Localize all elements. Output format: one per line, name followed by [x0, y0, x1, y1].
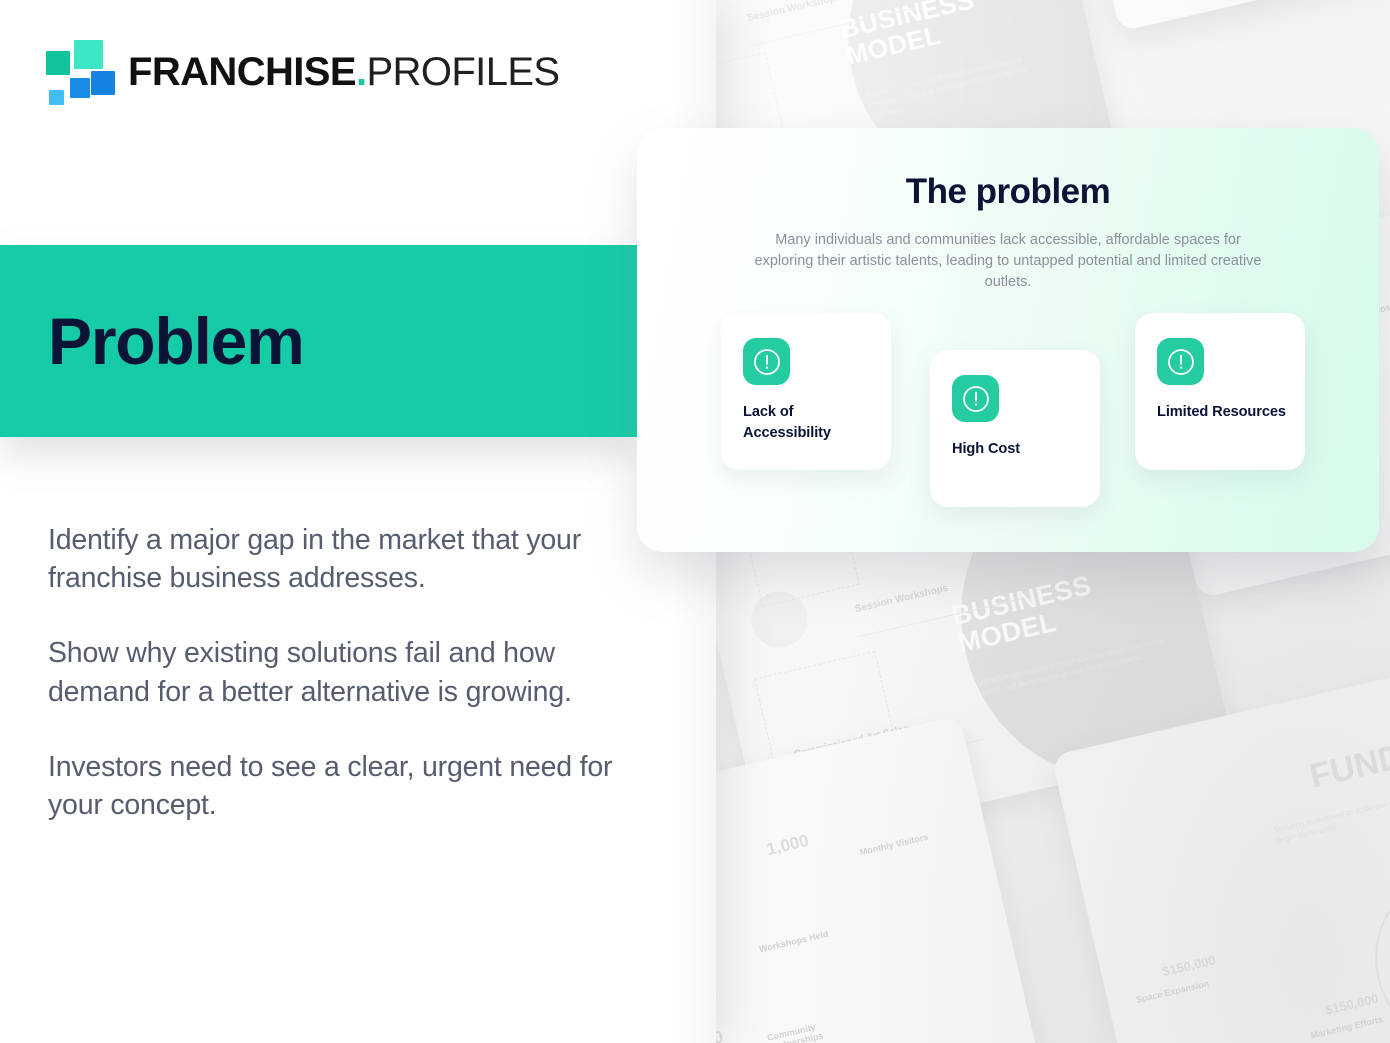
brand-name-bold: FRANCHISE	[128, 50, 356, 94]
brand-wordmark: FRANCHISE.PROFILES	[128, 52, 560, 92]
bg-metric-label: Monthly Visitors	[859, 832, 929, 857]
slide-canvas: BUSINESS MODEL Revenue generation throug…	[0, 0, 1390, 1043]
bg-slide-partial-topright	[1052, 0, 1390, 32]
preview-title: The problem	[637, 174, 1379, 209]
bg-metric-value: 20	[715, 1027, 725, 1043]
bg-funding-label: Space Expansion	[1135, 978, 1210, 1005]
preview-feature-card-2[interactable]: High Cost	[930, 350, 1100, 507]
brand-name-dot: .	[356, 50, 367, 94]
logo-square-blue-light	[49, 90, 64, 105]
brand-logo[interactable]: FRANCHISE.PROFILES	[46, 40, 560, 104]
brand-name-light: PROFILES	[366, 50, 559, 94]
bg-funding-value: $150,000	[1324, 991, 1380, 1018]
body-paragraph-1: Identify a major gap in the market that …	[48, 521, 614, 597]
bg-donut-chart	[1357, 850, 1390, 1043]
exclamation-circle-icon	[1157, 338, 1204, 385]
preview-feature-label: High Cost	[952, 439, 1088, 460]
preview-feature-card-1[interactable]: Lack of Accessibility	[721, 313, 891, 470]
preview-subtitle: Many individuals and communities lack ac…	[748, 230, 1268, 293]
bg-funding-label: Marketing Efforts	[1310, 1014, 1384, 1040]
bg-revenue-item: Session Workshops	[854, 583, 949, 615]
logo-square-teal-light	[74, 40, 103, 69]
bg-metric-value: 1,000	[765, 831, 811, 860]
exclamation-circle-icon	[743, 338, 790, 385]
body-paragraph-2: Show why existing solutions fail and how…	[48, 634, 614, 710]
preview-feature-card-3[interactable]: Limited Resources	[1135, 313, 1305, 470]
logo-square-teal-dark	[46, 51, 70, 75]
bg-slide-title: FUNDRAISING	[1306, 705, 1390, 796]
preview-header: The problem Many individuals and communi…	[637, 174, 1379, 293]
bg-dashed-frame	[715, 0, 744, 7]
bg-metric-label: Community Partnerships	[766, 1013, 858, 1043]
bg-revenue-item: Session Workshops	[746, 0, 841, 24]
preview-feature-label: Lack of Accessibility	[743, 402, 879, 444]
squares-logo-icon	[46, 40, 110, 104]
section-banner: Problem	[0, 245, 637, 437]
logo-square-blue-mid	[70, 78, 90, 98]
bg-funding-value: $150,000	[1161, 952, 1217, 979]
page-title: Problem	[48, 308, 304, 374]
slide-preview-card[interactable]: The problem Many individuals and communi…	[637, 128, 1379, 552]
body-copy: Identify a major gap in the market that …	[48, 521, 614, 824]
exclamation-circle-icon	[952, 375, 999, 422]
body-paragraph-3: Investors need to see a clear, urgent ne…	[48, 748, 614, 824]
bg-metric-label: Workshops Held	[758, 929, 829, 955]
preview-feature-label: Limited Resources	[1157, 402, 1293, 423]
logo-square-blue	[91, 71, 115, 95]
